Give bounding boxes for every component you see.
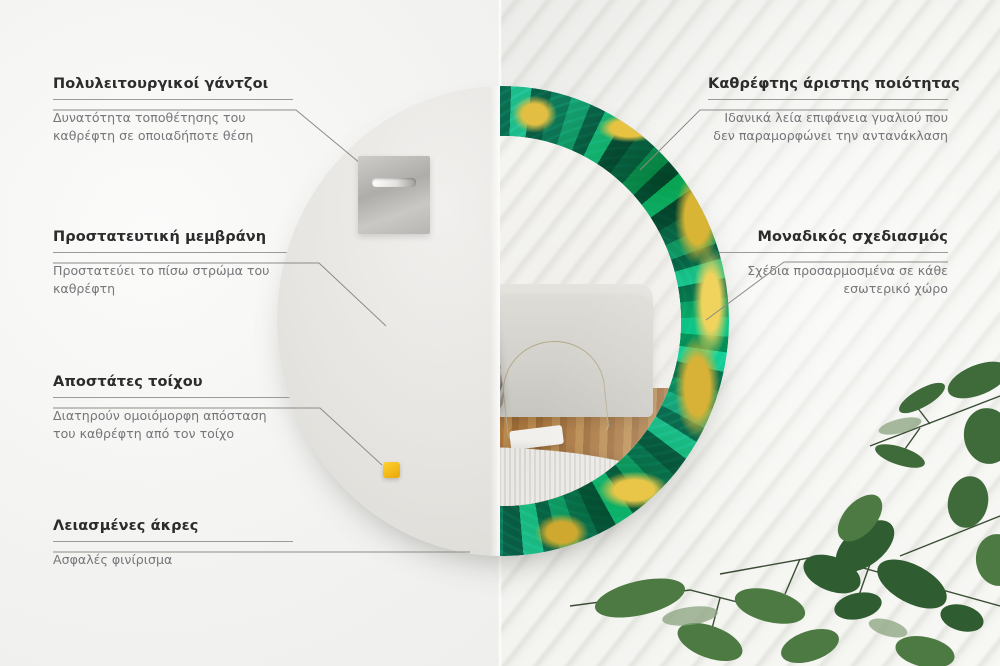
callout-membrane: Προστατευτική μεμβράνη Προστατεύει το πί…: [53, 229, 293, 299]
callout-membrane-desc: Προστατεύει το πίσω στρώμα του καθρέφτη: [53, 262, 293, 299]
callout-design: Μοναδικός σχεδιασμός Σχέδια προσαρμοσμέν…: [708, 229, 948, 299]
callout-hooks-desc: Δυνατότητα τοποθέτησης του καθρέφτη σε ο…: [53, 109, 293, 146]
callout-hooks-title: Πολυλειτουργικοί γάντζοι: [53, 76, 293, 92]
callout-hooks: Πολυλειτουργικοί γάντζοι Δυνατότητα τοπο…: [53, 76, 293, 146]
infographic-canvas: Πολυλειτουργικοί γάντζοι Δυνατότητα τοπο…: [0, 0, 1000, 666]
callout-membrane-title: Προστατευτική μεμβράνη: [53, 229, 293, 245]
callout-edges-desc: Ασφαλές φινίρισμα: [53, 551, 293, 569]
wall-spacer: [383, 462, 400, 478]
callout-quality-title: Καθρέφτης άριστης ποιότητας: [708, 76, 948, 92]
callout-membrane-rule: [53, 252, 293, 253]
callout-quality: Καθρέφτης άριστης ποιότητας Ιδανικά λεία…: [708, 76, 948, 146]
callout-quality-rule: [708, 99, 948, 100]
callout-spacers-title: Αποστάτες τοίχου: [53, 374, 293, 390]
foliage-decoration: [570, 306, 1000, 666]
callout-hooks-rule: [53, 99, 293, 100]
callout-spacers-desc: Διατηρούν ομοιόμορφη απόσταση του καθρέφ…: [53, 407, 293, 444]
callout-design-rule: [708, 252, 948, 253]
callout-design-desc: Σχέδια προσαρμοσμένα σε κάθε εσωτερικό χ…: [708, 262, 948, 299]
hanging-hook: [358, 156, 430, 234]
callout-edges-title: Λειασμένες άκρες: [53, 518, 293, 534]
callout-design-title: Μοναδικός σχεδιασμός: [708, 229, 948, 245]
callout-edges-rule: [53, 541, 293, 542]
callout-spacers: Αποστάτες τοίχου Διατηρούν ομοιόμορφη απ…: [53, 374, 293, 444]
callout-edges: Λειασμένες άκρες Ασφαλές φινίρισμα: [53, 518, 293, 569]
callout-quality-desc: Ιδανικά λεία επιφάνεια γυαλιού που δεν π…: [708, 109, 948, 146]
callout-spacers-rule: [53, 397, 293, 398]
hook-slot: [372, 178, 416, 187]
